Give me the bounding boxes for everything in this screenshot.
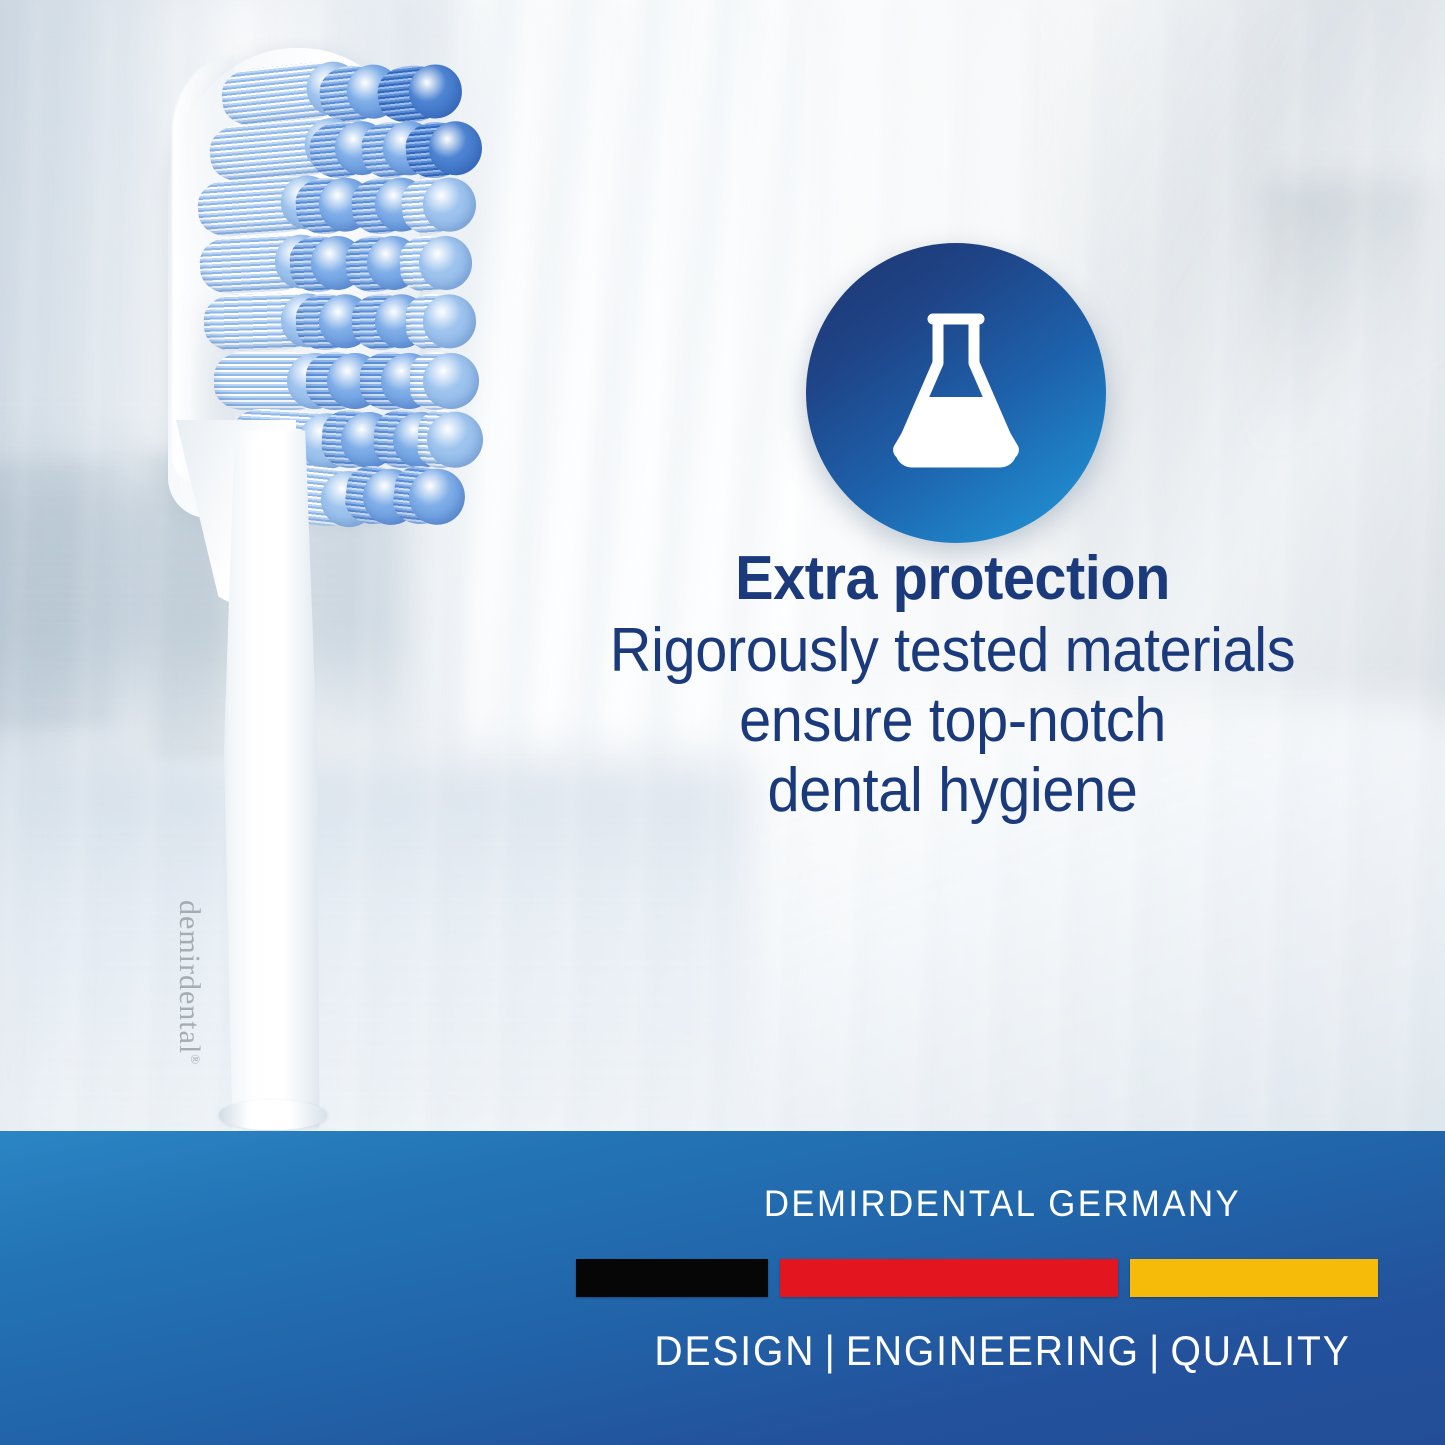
page-title: Extra protection [504, 548, 1401, 610]
brand-logo-on-handle: demirdental® [172, 900, 206, 1064]
marketing-subtext: Rigorously tested materials ensure top-n… [504, 616, 1401, 826]
bristle-tuft [345, 235, 404, 294]
brand-banner: DEMIRDENTAL GERMANY DESIGN|ENGINEERING|Q… [0, 1131, 1445, 1445]
marketing-copy: Extra protection Rigorously tested mater… [470, 548, 1435, 826]
bristle-tuft [321, 409, 380, 470]
subtext-line-2: ensure top-notch [504, 686, 1401, 756]
subtext-line-3: dental hygiene [504, 756, 1401, 826]
flag-bar-red [780, 1259, 1118, 1297]
flask-badge [806, 243, 1106, 543]
subtext-line-1: Rigorously tested materials [504, 616, 1401, 686]
brand-banner-subtitle: DESIGN|ENGINEERING|QUALITY [591, 1327, 1414, 1375]
product-marketing-image: demirdental® Extra protection Rigorously… [0, 0, 1445, 1445]
brand-banner-title: DEMIRDENTAL GERMANY [587, 1183, 1419, 1225]
bristle-tuft [410, 352, 460, 410]
bristle-tuft [294, 176, 356, 236]
flag-bar-gold [1130, 1259, 1378, 1297]
bristle-tuft [375, 63, 446, 126]
bristle-tuft [351, 293, 411, 351]
collar-ring-1 [219, 1100, 327, 1130]
bristle-tuft [404, 120, 467, 181]
brand-banner-content: DEMIRDENTAL GERMANY DESIGN|ENGINEERING|Q… [560, 1131, 1445, 1445]
bristle-tuft [405, 293, 459, 351]
bristle-tuft [391, 463, 449, 526]
brand-registered-mark: ® [188, 1054, 203, 1064]
banner-separator-2: | [1140, 1327, 1171, 1375]
bristle-tuft [400, 176, 460, 236]
flask-icon [876, 307, 1036, 479]
flag-bar-black [576, 1259, 768, 1297]
bristle-tuft [417, 409, 466, 469]
bristle-tuft [289, 235, 348, 294]
banner-separator-1: | [815, 1327, 846, 1375]
brush-neck [215, 430, 325, 1130]
brand-name-text: demirdental [173, 900, 206, 1054]
brush-neck-highlight [243, 440, 269, 1120]
banner-part-design: DESIGN [654, 1327, 815, 1374]
banner-part-engineering: ENGINEERING [846, 1327, 1140, 1374]
banner-part-quality: QUALITY [1170, 1327, 1350, 1374]
bristle-tuft [399, 235, 456, 294]
german-flag-bars [576, 1259, 1421, 1297]
bristle-tuft-tip [423, 353, 479, 409]
bristle-tuft [306, 352, 364, 410]
bristle-tuft [295, 293, 355, 351]
